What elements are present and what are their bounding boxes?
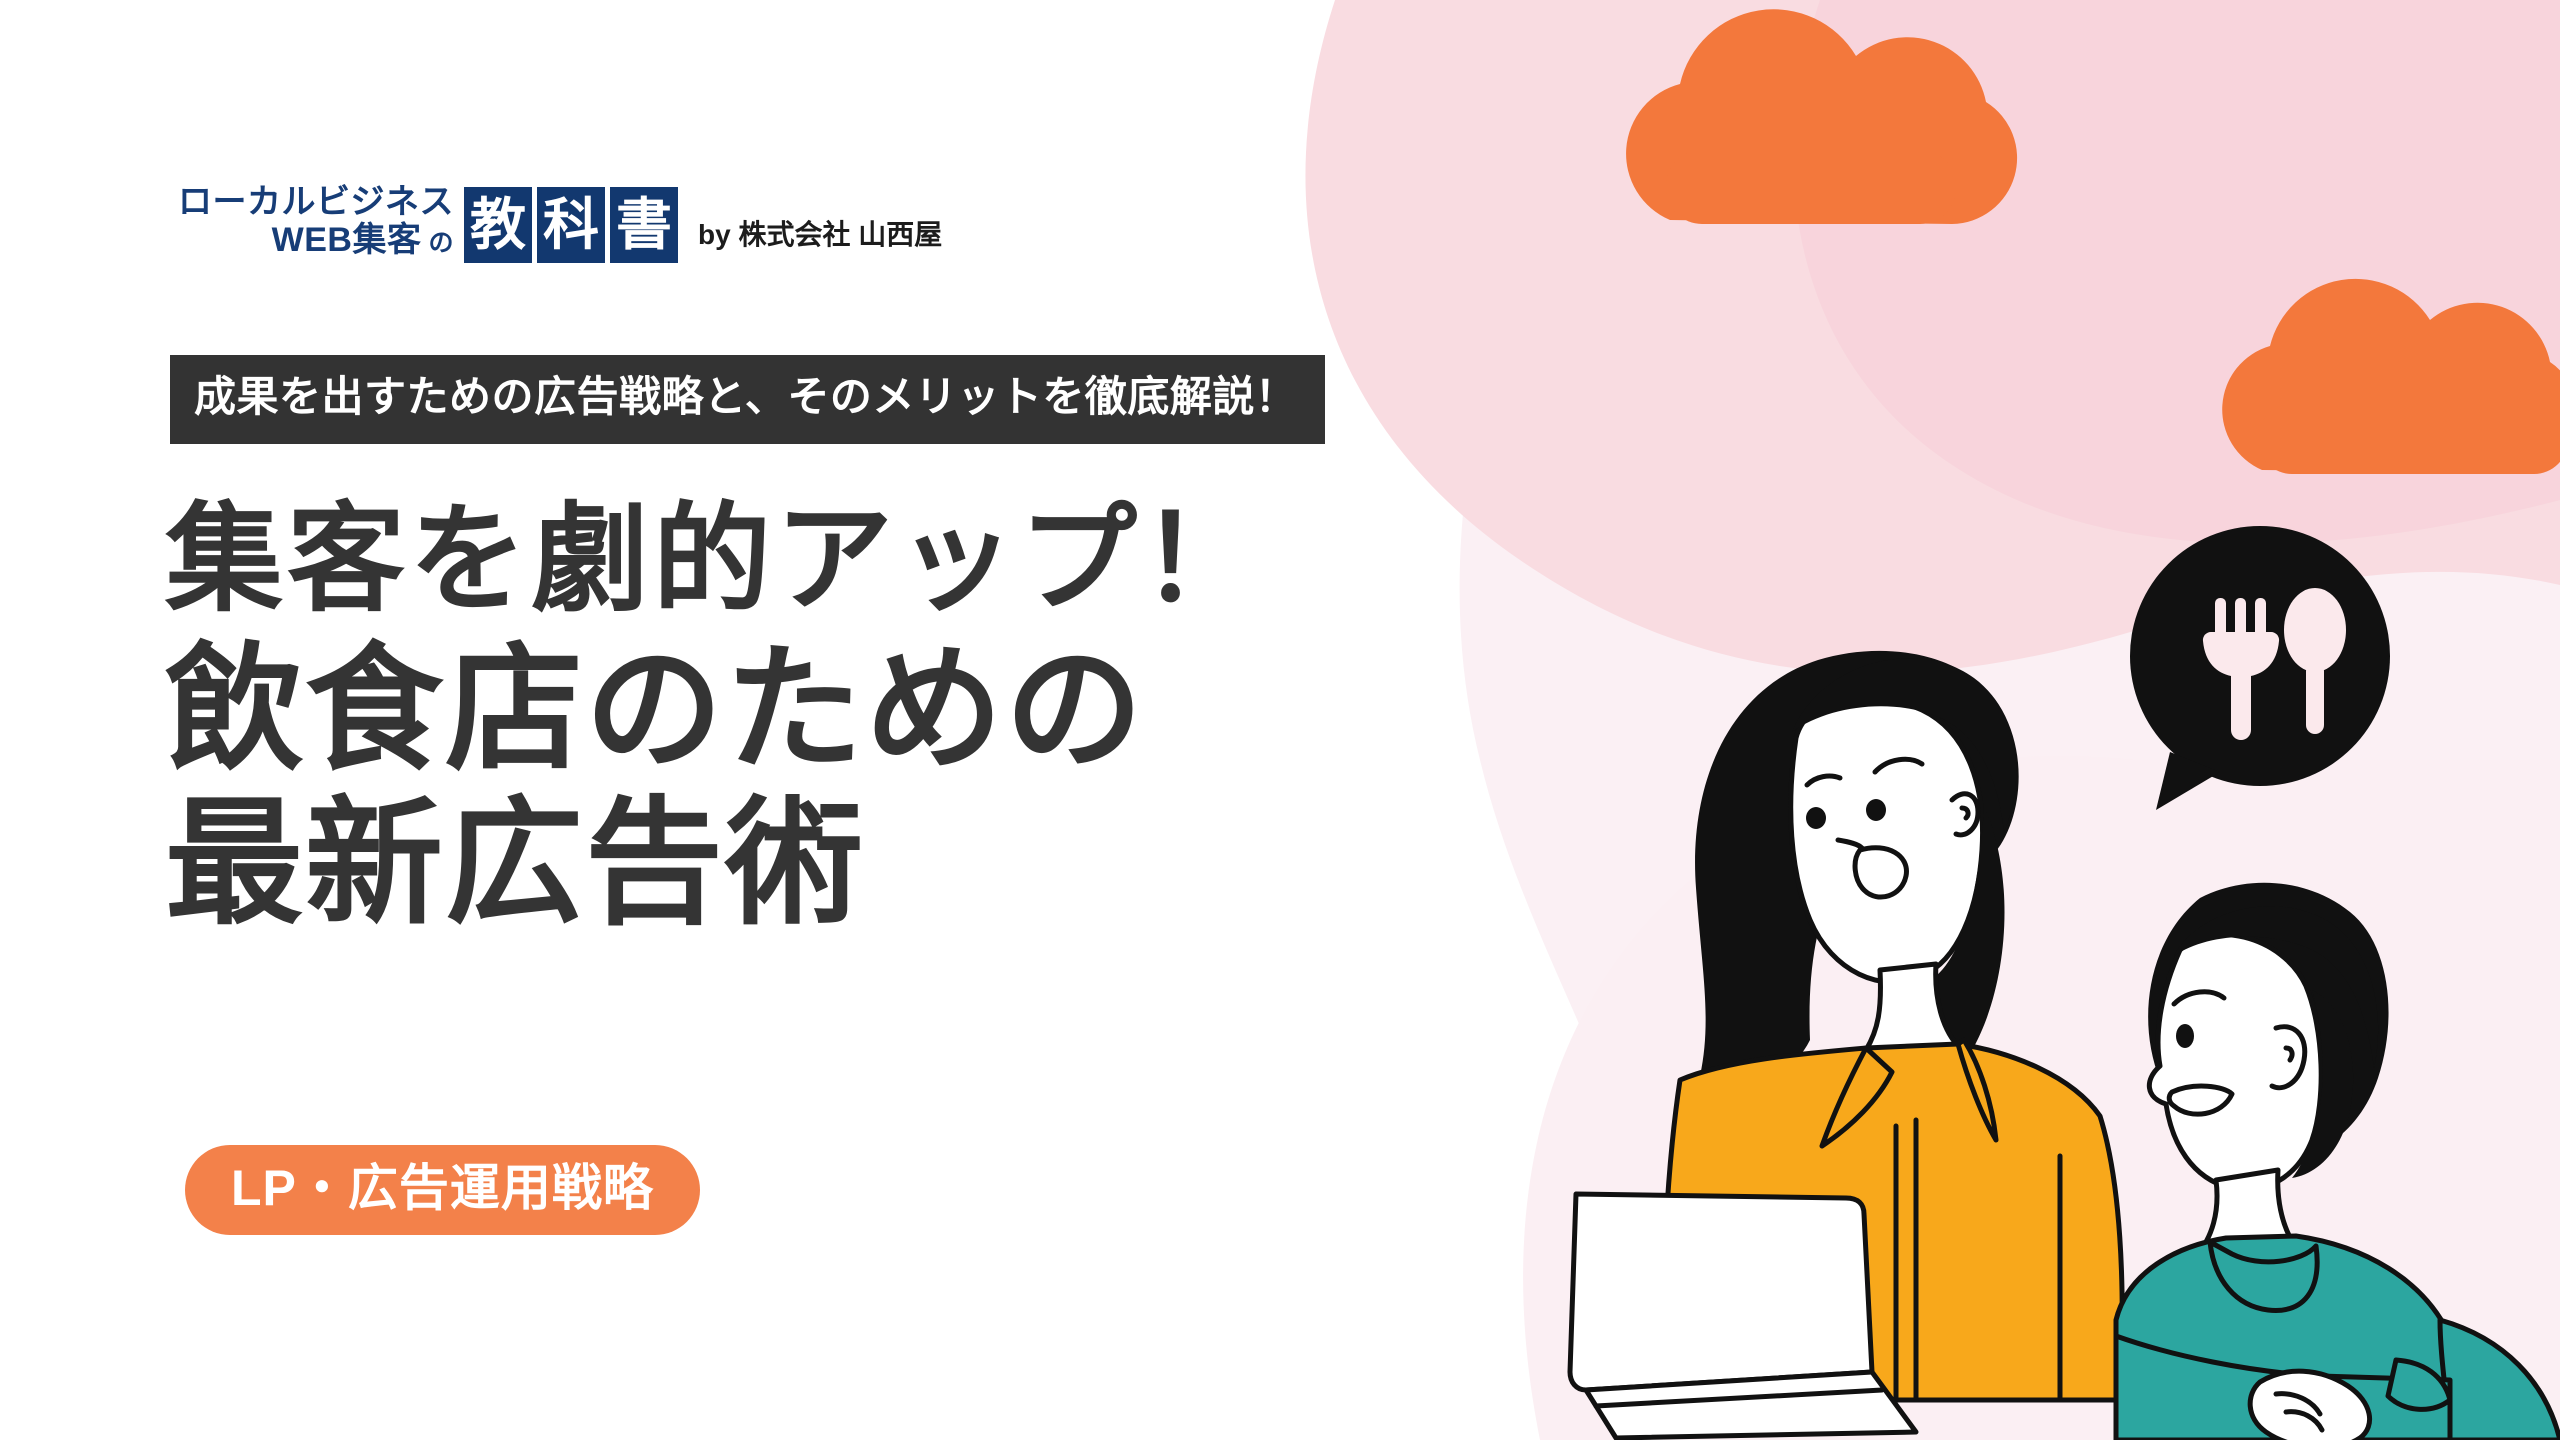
subtitle-bar: 成果を出すための広告戦略と、そのメリットを徹底解説！ [170,355,1325,444]
headline-line-2: 飲食店のための [165,640,1263,778]
woman-eye-right [1866,799,1886,821]
subtitle-text: 成果を出すための広告戦略と、そのメリットを徹底解説！ [194,371,1297,424]
category-badge-label: LP・広告運用戦略 [231,1163,654,1213]
man-sweater-right-arm [2440,1320,2560,1440]
logo-line-2: WEB集客 の [272,221,454,259]
logo-kanji-blocks: 教 科 書 [464,187,678,263]
people-illustration [1560,520,2560,1440]
page-title: 集客を劇的アップ！ 飲食店のための 最新広告術 [165,500,1263,932]
logo-byline: by 株式会社 山西屋 [698,213,942,263]
kanji-block-1: 教 [464,187,532,263]
woman-face [1791,697,1983,982]
man-face [2149,934,2321,1189]
logo-line-1: ローカルビジネス [178,183,454,221]
category-badge: LP・広告運用戦略 [185,1145,700,1235]
laptop-screen [1570,1194,1872,1390]
headline-line-1: 集客を劇的アップ！ [165,500,1263,618]
logo-line-2-text: WEB集客 [272,221,422,259]
speech-bubble [2130,526,2390,810]
kanji-block-2: 科 [537,187,605,263]
logo-particle: の [428,229,454,257]
man-eye [2176,1024,2194,1048]
laptop [1570,1194,1916,1438]
kanji-block-3: 書 [610,187,678,263]
woman-mouth [1855,848,1906,897]
man-figure [2116,883,2560,1440]
woman-eye-left [1806,807,1826,829]
logo-lockup: ローカルビジネス WEB集客 の 教 科 書 by 株式会社 山西屋 [178,183,942,263]
logo-wordmark: ローカルビジネス WEB集客 の [178,183,454,263]
marketing-banner: ローカルビジネス WEB集客 の 教 科 書 by 株式会社 山西屋 成果を出す… [0,0,2560,1440]
headline-line-3: 最新広告術 [165,794,1263,932]
